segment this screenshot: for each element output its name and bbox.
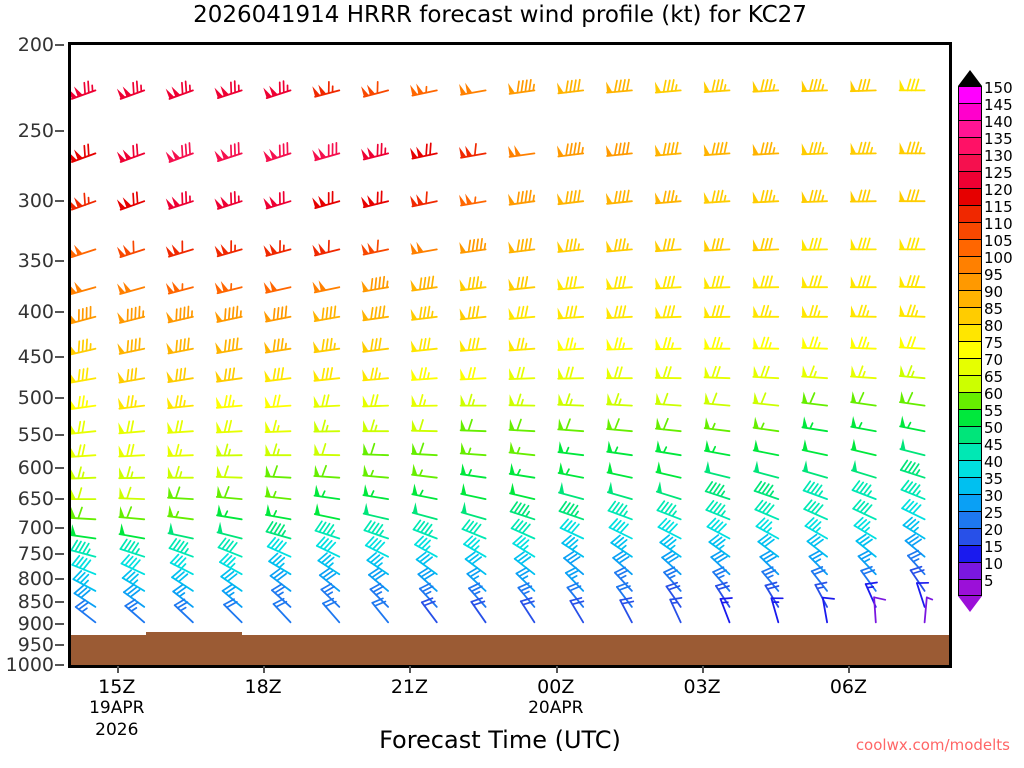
colorbar-segment [958, 324, 982, 341]
wind-barb [900, 276, 925, 288]
wind-barb [215, 281, 242, 293]
x-axis-tick-mark [117, 666, 119, 673]
wind-barb [168, 467, 193, 478]
wind-barb [362, 368, 388, 380]
wind-barb [71, 144, 95, 162]
colorbar-segment [958, 273, 982, 290]
wind-profile-chart: 2026041914 HRRR forecast wind profile (k… [0, 0, 1024, 768]
wind-barb [559, 482, 583, 499]
wind-barb [607, 367, 632, 378]
wind-barb [802, 416, 827, 431]
colorbar-segment [958, 562, 982, 579]
wind-barb [224, 599, 242, 622]
wind-barb [606, 191, 632, 204]
wind-barb [558, 394, 583, 406]
wind-barb [508, 80, 534, 94]
wind-barb [521, 598, 535, 622]
wind-barb [215, 307, 242, 323]
y-axis-tick-label: 350 [18, 250, 54, 272]
wind-barb [656, 338, 681, 349]
colorbar-value-label: 55 [984, 402, 1003, 420]
wind-barb [660, 535, 681, 557]
colorbar-value-label: 35 [984, 470, 1003, 488]
y-axis-tick-mark [55, 434, 64, 436]
wind-barb [265, 395, 291, 407]
wind-barb [758, 535, 778, 557]
wind-barb [167, 421, 193, 433]
colorbar-value-label: 65 [984, 368, 1003, 386]
wind-barb [753, 306, 778, 317]
wind-barb [655, 239, 681, 251]
wind-barb [175, 599, 193, 622]
colorbar-value-label: 150 [984, 79, 1013, 97]
wind-barb [561, 519, 584, 538]
wind-barb [167, 368, 193, 382]
wind-barb [557, 239, 583, 252]
x-axis-tick-mark [409, 666, 411, 673]
wind-barb [606, 306, 632, 318]
y-axis-tick-label: 400 [18, 301, 54, 323]
wind-barb [851, 305, 876, 316]
wind-barb [754, 440, 779, 456]
wind-barb [925, 597, 933, 622]
colorbar-segment [958, 154, 982, 171]
x-axis-date-label: 20APR [528, 698, 583, 718]
colorbar-value-label: 135 [984, 130, 1013, 148]
wind-barb [412, 420, 437, 432]
wind-barb [220, 554, 242, 574]
wind-barb [851, 80, 876, 92]
wind-barb [459, 83, 486, 95]
wind-barb [874, 597, 885, 622]
wind-barb [851, 276, 876, 287]
wind-barb [411, 368, 437, 380]
wind-barb [802, 366, 827, 379]
wind-barb [705, 440, 730, 455]
wind-barb [215, 192, 242, 209]
colorbar-segment [958, 205, 982, 222]
wind-barb [656, 461, 680, 477]
wind-barb [562, 536, 583, 557]
colorbar-value-label: 10 [984, 555, 1003, 573]
colorbar-segment [958, 171, 982, 188]
x-axis-tick-label: 18Z [245, 676, 282, 698]
wind-barb [314, 444, 339, 456]
wind-barb [606, 80, 632, 93]
y-axis-tick-mark [55, 527, 64, 529]
colorbar-segment [958, 239, 982, 256]
wind-barb [802, 392, 827, 406]
wind-barb [901, 481, 924, 499]
y-axis-tick-mark [55, 623, 64, 625]
colorbar-segment [958, 120, 982, 137]
wind-barb [804, 500, 827, 519]
wind-barb [803, 439, 828, 455]
wind-barb [316, 521, 340, 538]
wind-barb [266, 504, 291, 519]
wind-barb [559, 462, 584, 478]
wind-barb [771, 598, 782, 622]
colorbar-value-label: 105 [984, 232, 1013, 250]
wind-barb [117, 282, 144, 294]
wind-barb [414, 520, 437, 538]
wind-barb [410, 143, 437, 158]
y-axis-tick-mark [55, 130, 64, 132]
colorbar-value-label: 15 [984, 538, 1003, 556]
wind-barb [509, 368, 534, 380]
wind-barb [410, 84, 437, 96]
wind-barb [508, 239, 534, 253]
x-axis-date-label: 19APR [89, 698, 144, 718]
wind-barb [166, 338, 193, 353]
wind-barb [852, 460, 876, 478]
wind-barb [168, 445, 193, 456]
wind-barb [268, 538, 291, 557]
wind-barb [900, 305, 925, 317]
colorbar-segment [958, 222, 982, 239]
wind-barb [263, 143, 290, 161]
wind-barb [753, 191, 779, 203]
colorbar-scale[interactable] [958, 86, 982, 596]
wind-barb [802, 190, 827, 202]
wind-barb [851, 416, 876, 431]
wind-barb [412, 443, 437, 455]
wind-barb [71, 396, 95, 409]
wind-barb [363, 443, 388, 455]
wind-barb [412, 464, 437, 478]
wind-barb [363, 465, 388, 478]
wind-barb [364, 521, 388, 539]
wind-barb [118, 368, 145, 382]
wind-barb [509, 419, 534, 431]
colorbar-segment [958, 443, 982, 460]
x-axis-tick-label: 21Z [391, 676, 428, 698]
x-axis-tick-label: 06Z [830, 676, 867, 698]
wind-barb [263, 192, 290, 209]
colorbar-segment [958, 392, 982, 409]
colorbar-segment [958, 256, 982, 273]
wind-barb [557, 191, 583, 205]
wind-barb [606, 239, 632, 252]
wind-barb [856, 535, 875, 557]
colorbar-segment [958, 137, 982, 154]
wind-barb [900, 416, 925, 432]
wind-barb [460, 338, 486, 351]
colorbar-segment [958, 545, 982, 562]
colorbar-value-label: 85 [984, 300, 1003, 318]
wind-barb [314, 395, 340, 407]
wind-barb [558, 306, 584, 318]
wind-barb [362, 339, 388, 352]
wind-barb [71, 421, 95, 434]
wind-barb [215, 338, 242, 353]
wind-barb [264, 339, 290, 353]
y-axis-tick-label: 600 [18, 457, 54, 479]
x-axis-tick-label: 15Z [98, 676, 135, 698]
wind-barb [363, 484, 388, 499]
wind-barb [753, 276, 778, 287]
wind-barb [558, 338, 584, 350]
wind-barb [363, 420, 388, 431]
wind-barb [753, 337, 778, 348]
wind-barb [851, 190, 876, 201]
wind-barb [312, 241, 339, 256]
wind-barb [318, 553, 339, 574]
colorbar-arrow-top-icon [958, 70, 982, 86]
x-axis-tick-label: 03Z [684, 676, 721, 698]
wind-barb [755, 482, 779, 500]
wind-barb [266, 444, 291, 455]
wind-barb [266, 486, 291, 500]
colorbar-segment [958, 307, 982, 324]
wind-barb [119, 487, 144, 499]
wind-barb [471, 598, 485, 622]
colorbar-value-label: 100 [984, 249, 1013, 267]
wind-barb [706, 501, 729, 519]
wind-barb [461, 395, 486, 406]
wind-barb [117, 241, 144, 257]
wind-barb [802, 143, 827, 155]
wind-barb [753, 239, 778, 251]
wind-barb [274, 599, 291, 623]
wind-barb [315, 485, 340, 499]
y-axis-tick-mark [55, 553, 64, 555]
wind-barb [705, 461, 729, 478]
wind-barb [461, 483, 485, 499]
colorbar-value-label: 145 [984, 96, 1013, 114]
wind-barb [464, 536, 486, 556]
wind-barb [312, 82, 339, 97]
wind-barb [71, 541, 95, 557]
wind-barb [511, 502, 535, 519]
wind-barb [900, 438, 924, 455]
wind-barb [167, 396, 193, 409]
wind-barb [166, 143, 193, 162]
wind-barb [171, 555, 193, 575]
wind-barb [558, 441, 583, 455]
wind-barb [71, 194, 95, 210]
wind-barb [460, 368, 486, 380]
wind-barb [461, 463, 486, 477]
wind-barb [656, 393, 681, 406]
wind-barb [364, 503, 388, 519]
wind-barb [117, 307, 144, 323]
wind-barb [217, 444, 242, 455]
wind-barb [510, 463, 535, 478]
wind-barb [72, 556, 95, 574]
wind-barb [802, 276, 827, 287]
wind-barb [655, 306, 680, 318]
wind-barb [606, 143, 632, 156]
wind-barb [510, 483, 534, 499]
colorbar-value-label: 30 [984, 487, 1003, 505]
wind-barb [120, 523, 145, 538]
wind-barb [611, 535, 632, 556]
colorbar-value-label: 60 [984, 385, 1003, 403]
wind-barb [900, 142, 925, 153]
colorbar-value-label: 125 [984, 164, 1013, 182]
x-axis-tick-label: 00Z [537, 676, 574, 698]
wind-barb [558, 419, 583, 432]
wind-barb [71, 282, 95, 294]
colorbar-value-label: 140 [984, 113, 1013, 131]
wind-barb [900, 365, 925, 378]
wind-barb [704, 276, 729, 288]
colorbar-segment [958, 86, 982, 103]
wind-barb [510, 442, 535, 456]
colorbar-segment [958, 460, 982, 477]
wind-barb [217, 466, 242, 478]
wind-barb [705, 417, 730, 431]
wind-barb [313, 339, 339, 353]
wind-barb [462, 520, 485, 538]
wind-barb [851, 238, 876, 249]
x-axis-tick-mark [263, 666, 265, 673]
wind-barb [851, 337, 876, 349]
wind-barb [71, 339, 95, 354]
wind-barb [117, 81, 144, 99]
colorbar-segment [958, 358, 982, 375]
wind-barb [169, 523, 193, 539]
wind-barb [851, 143, 876, 154]
wind-barb [166, 192, 193, 209]
y-axis-tick-mark [55, 260, 64, 262]
wind-barb [413, 502, 437, 519]
wind-barb [218, 522, 242, 539]
colorbar-segment [958, 477, 982, 494]
y-axis-tick-mark [55, 578, 64, 580]
colorbar-value-label: 95 [984, 266, 1003, 284]
wind-barb [119, 445, 145, 457]
wind-barb [216, 396, 242, 408]
wind-barb [754, 461, 778, 478]
wind-barb [312, 192, 339, 208]
wind-barb [412, 484, 437, 500]
wind-barb [166, 281, 193, 293]
y-axis-tick-label: 300 [18, 190, 54, 212]
wind-barb [122, 555, 145, 574]
colorbar-value-label: 5 [984, 572, 994, 590]
wind-barb [119, 467, 144, 478]
wind-barb [317, 537, 340, 556]
wind-barb [513, 536, 534, 557]
y-axis-tick-label: 450 [18, 346, 54, 368]
wind-barb [71, 245, 95, 257]
wind-barb [71, 307, 95, 324]
wind-barb [119, 506, 144, 519]
wind-barb [117, 144, 144, 162]
wind-barb [362, 306, 388, 320]
wind-barb [753, 366, 778, 378]
wind-barb [315, 503, 340, 519]
colorbar-segment [958, 494, 982, 511]
wind-barb [558, 367, 583, 378]
wind-barb [120, 540, 144, 557]
wind-barb [853, 500, 876, 519]
wind-barb [709, 535, 729, 557]
wind-barb [366, 537, 388, 557]
wind-barb [607, 441, 632, 455]
y-axis-tick-mark [55, 356, 64, 358]
wind-barb [656, 418, 681, 432]
y-axis-tick-mark [55, 498, 64, 500]
wind-barb [71, 467, 95, 478]
wind-barb [754, 417, 779, 431]
wind-barb [461, 442, 486, 455]
wind-barb [361, 240, 388, 254]
y-axis-tick-label: 900 [18, 613, 54, 635]
wind-barb [706, 482, 730, 499]
wind-barb [900, 190, 925, 201]
wind-barb [166, 81, 193, 99]
wind-barb [459, 194, 486, 206]
wind-barb [217, 486, 242, 499]
wind-barb [215, 81, 242, 98]
wind-barb [117, 192, 144, 210]
wind-barb [802, 80, 827, 92]
wind-barb-layer [71, 45, 949, 665]
wind-barb [71, 445, 95, 457]
wind-barb [118, 396, 144, 409]
wind-barb [815, 583, 827, 607]
wind-barb [361, 144, 388, 160]
colorbar-value-label: 120 [984, 181, 1013, 199]
wind-barb [655, 277, 681, 289]
wind-barb [753, 143, 779, 155]
wind-barb [705, 366, 730, 378]
wind-barb [851, 366, 876, 379]
wind-barb [71, 368, 95, 382]
plot-area [68, 42, 952, 668]
wind-barb [607, 393, 632, 405]
colorbar-value-label: 70 [984, 351, 1003, 369]
wind-barb [411, 277, 437, 291]
wind-barb [263, 81, 290, 98]
wind-barb [802, 306, 827, 317]
wind-barb [509, 394, 534, 405]
wind-barb [410, 192, 437, 206]
colorbar-segment [958, 290, 982, 307]
wind-barb [853, 481, 876, 499]
wind-barb [606, 277, 632, 289]
wind-barb [557, 277, 583, 290]
wind-barb [657, 501, 680, 519]
colorbar-value-label: 75 [984, 334, 1003, 352]
colorbar-segment [958, 409, 982, 426]
terrain-segment [242, 635, 949, 665]
wind-barb [71, 488, 95, 499]
wind-barb [804, 481, 828, 499]
wind-barb [657, 481, 681, 499]
wind-barb [509, 306, 535, 319]
wind-barb [168, 505, 193, 519]
wind-barb [753, 392, 778, 406]
y-axis-tick-label: 250 [18, 120, 54, 142]
wind-barb [902, 500, 925, 520]
y-axis-tick-mark [55, 44, 64, 46]
wind-barb [900, 336, 925, 348]
y-axis-tick-label: 800 [18, 568, 54, 590]
colorbar-arrow-bottom-icon [958, 596, 982, 612]
wind-barb [655, 143, 681, 156]
chart-title: 2026041914 HRRR forecast wind profile (k… [0, 2, 1000, 28]
wind-barb [313, 368, 339, 381]
wind-barb [900, 391, 925, 405]
wind-barb [76, 600, 96, 622]
y-axis-tick-label: 1000 [6, 654, 54, 676]
y-axis-tick-mark [55, 397, 64, 399]
terrain-segment [71, 635, 146, 665]
